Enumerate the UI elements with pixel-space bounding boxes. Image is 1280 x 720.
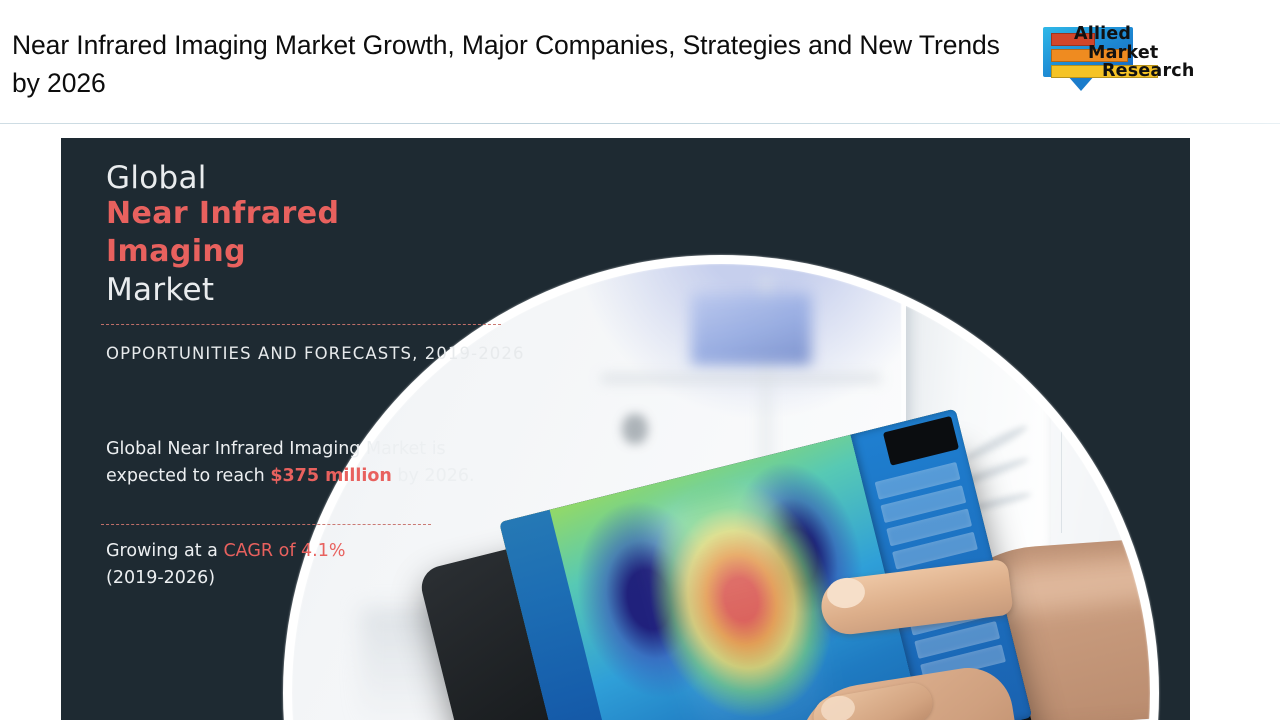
market-size-suffix: by 2026. — [392, 466, 475, 486]
banner-title-global: Global — [106, 160, 207, 196]
banner-title-near-infrared: Near Infrared — [106, 196, 339, 231]
logo-word-market: Market — [1088, 44, 1249, 63]
dashed-divider-bottom — [101, 524, 431, 525]
market-size-value: $375 million — [270, 466, 392, 486]
cagr-prefix: Growing at a — [106, 541, 223, 561]
cagr-value: CAGR of 4.1% — [223, 541, 345, 561]
market-report-banner-image: Global Near Infrared Imaging Market OPPO… — [61, 138, 1190, 720]
banner-title-market: Market — [106, 272, 214, 308]
page-root: Near Infrared Imaging Market Growth, Maj… — [0, 0, 1280, 720]
logo-word-research: Research — [1102, 62, 1249, 81]
banner-market-size-statement: Global Near Infrared Imaging Market is e… — [106, 436, 506, 490]
cagr-years: (2019-2026) — [106, 568, 215, 588]
banner-title-imaging: Imaging — [106, 234, 246, 269]
allied-market-research-logo[interactable]: Allied Market Research — [1043, 25, 1243, 90]
dashed-divider-top — [101, 324, 501, 325]
logo-wordmark: Allied Market Research — [1074, 25, 1249, 81]
banner-subtitle: OPPORTUNITIES AND FORECASTS, 2019-2026 — [106, 340, 526, 367]
banner-text-block: Global Near Infrared Imaging Market OPPO… — [61, 138, 581, 720]
header-divider — [0, 123, 1280, 124]
logo-word-allied: Allied — [1074, 25, 1249, 44]
banner-cagr-statement: Growing at a CAGR of 4.1% (2019-2026) — [106, 538, 506, 592]
page-header: Near Infrared Imaging Market Growth, Maj… — [0, 0, 1280, 124]
page-title: Near Infrared Imaging Market Growth, Maj… — [12, 26, 1022, 102]
